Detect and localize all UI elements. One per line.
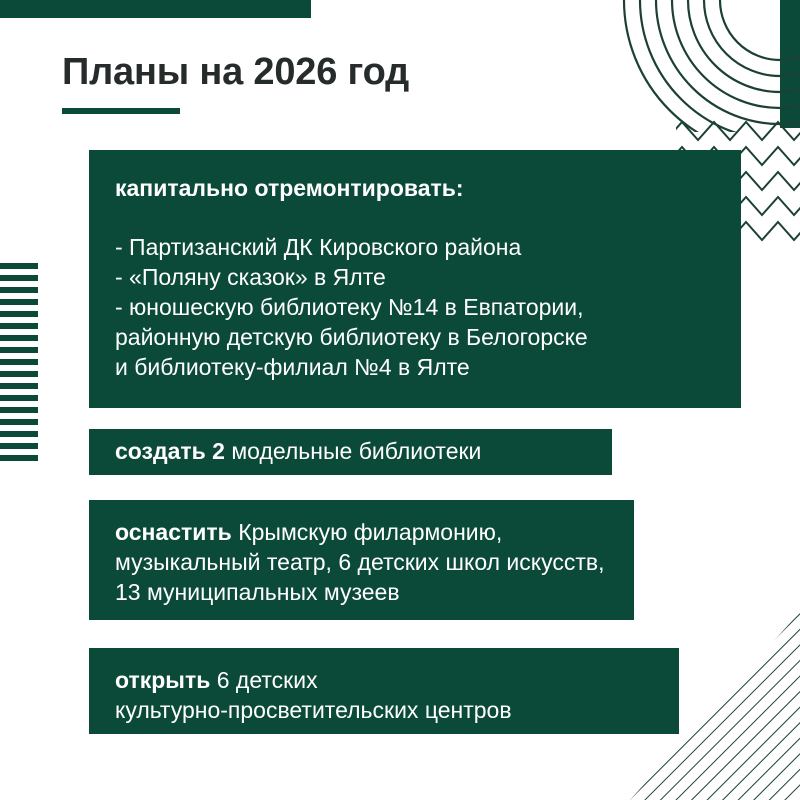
card-body-text: модельные библиотеки: [225, 438, 481, 464]
horizontal-stripes-icon: [0, 263, 38, 483]
concentric-arcs-icon: [600, 0, 800, 132]
card-body: создать 2 модельные библиотеки: [115, 437, 481, 467]
card-lead: создать 2: [115, 438, 225, 464]
plan-card-capital-repair: капитально отремонтировать: - Партизанск…: [89, 150, 741, 408]
page-title: Планы на 2026 год: [62, 52, 409, 94]
card-heading: капитально отремонтировать:: [115, 174, 715, 203]
top-left-green-bar: [0, 0, 311, 18]
card-body: - Партизанский ДК Кировского района - «П…: [115, 233, 715, 382]
card-body: оснастить Крымскую филармонию, музыкальн…: [115, 518, 608, 608]
title-underline-rule: [62, 108, 180, 114]
card-lead: оснастить: [115, 519, 232, 545]
infographic-canvas: Планы на 2026 год капитально отремонтиро…: [0, 0, 800, 800]
card-lead: открыть: [115, 667, 210, 693]
plan-card-create-libraries: создать 2 модельные библиотеки: [89, 429, 612, 475]
header: Планы на 2026 год: [62, 52, 409, 114]
plan-card-open-centers: открыть 6 детских культурно-просветитель…: [89, 648, 679, 734]
plan-card-equip: оснастить Крымскую филармонию, музыкальн…: [89, 500, 634, 620]
right-edge-green-bar: [780, 0, 800, 128]
card-body: открыть 6 детских культурно-просветитель…: [115, 666, 653, 726]
